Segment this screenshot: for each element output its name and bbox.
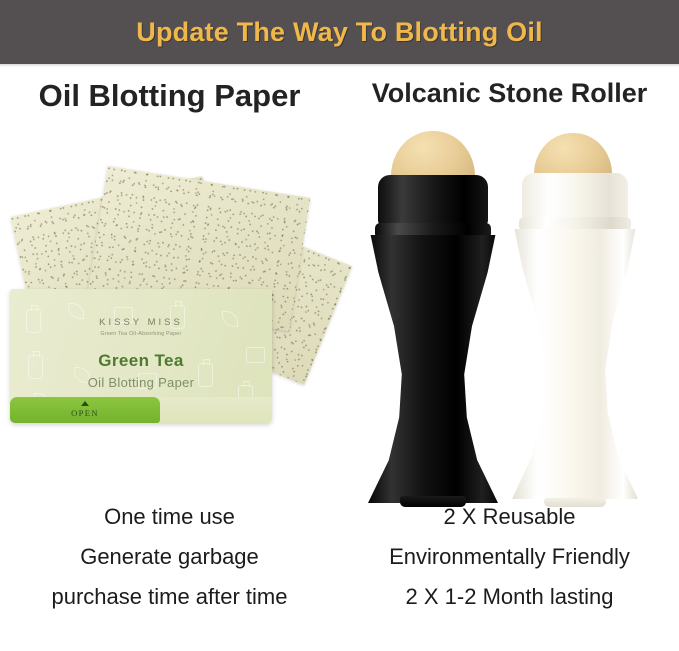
roller-collar <box>522 173 628 221</box>
bullet-item: Generate garbage <box>0 537 339 577</box>
header-banner: Update The Way To Blotting Oil <box>0 0 679 64</box>
bullet-item: purchase time after time <box>0 577 339 617</box>
package-open-label: OPEN <box>10 408 160 418</box>
bullet-item: 2 X 1-2 Month lasting <box>340 577 679 617</box>
product-image-blotting-paper: KISSY MISS Green Tea Oil-Absorbing Paper… <box>0 117 339 507</box>
product-image-stone-rollers <box>340 117 679 507</box>
bullet-item: One time use <box>0 497 339 537</box>
column-heading-right: Volcanic Stone Roller <box>340 78 679 109</box>
product-package-box: KISSY MISS Green Tea Oil-Absorbing Paper… <box>10 289 272 423</box>
package-side-strip <box>160 397 272 423</box>
up-arrow-icon <box>81 401 89 406</box>
bullet-list-right: 2 X Reusable Environmentally Friendly 2 … <box>340 497 679 617</box>
package-brand-tagline: Green Tea Oil-Absorbing Paper <box>10 331 272 337</box>
roller-ring <box>519 217 631 231</box>
bullet-item: Environmentally Friendly <box>340 537 679 577</box>
package-open-tab: OPEN <box>10 397 160 423</box>
package-brand-name: KISSY MISS <box>10 317 272 328</box>
roller-body <box>368 235 498 503</box>
package-subtitle: Oil Blotting Paper <box>10 375 272 390</box>
column-volcanic-stone-roller: Volcanic Stone Roller 2 X Reusable Envir… <box>340 67 679 651</box>
comparison-columns: Oil Blotting Paper <box>0 67 679 651</box>
package-title: Green Tea <box>10 351 272 371</box>
bullet-list-left: One time use Generate garbage purchase t… <box>0 497 339 617</box>
bullet-item: 2 X Reusable <box>340 497 679 537</box>
roller-body <box>512 229 638 499</box>
product-black-roller <box>358 127 508 507</box>
banner-title: Update The Way To Blotting Oil <box>136 17 542 48</box>
column-heading-left: Oil Blotting Paper <box>0 78 339 114</box>
product-white-roller <box>500 127 650 507</box>
roller-collar <box>378 175 488 227</box>
column-oil-blotting-paper: Oil Blotting Paper <box>0 67 339 651</box>
